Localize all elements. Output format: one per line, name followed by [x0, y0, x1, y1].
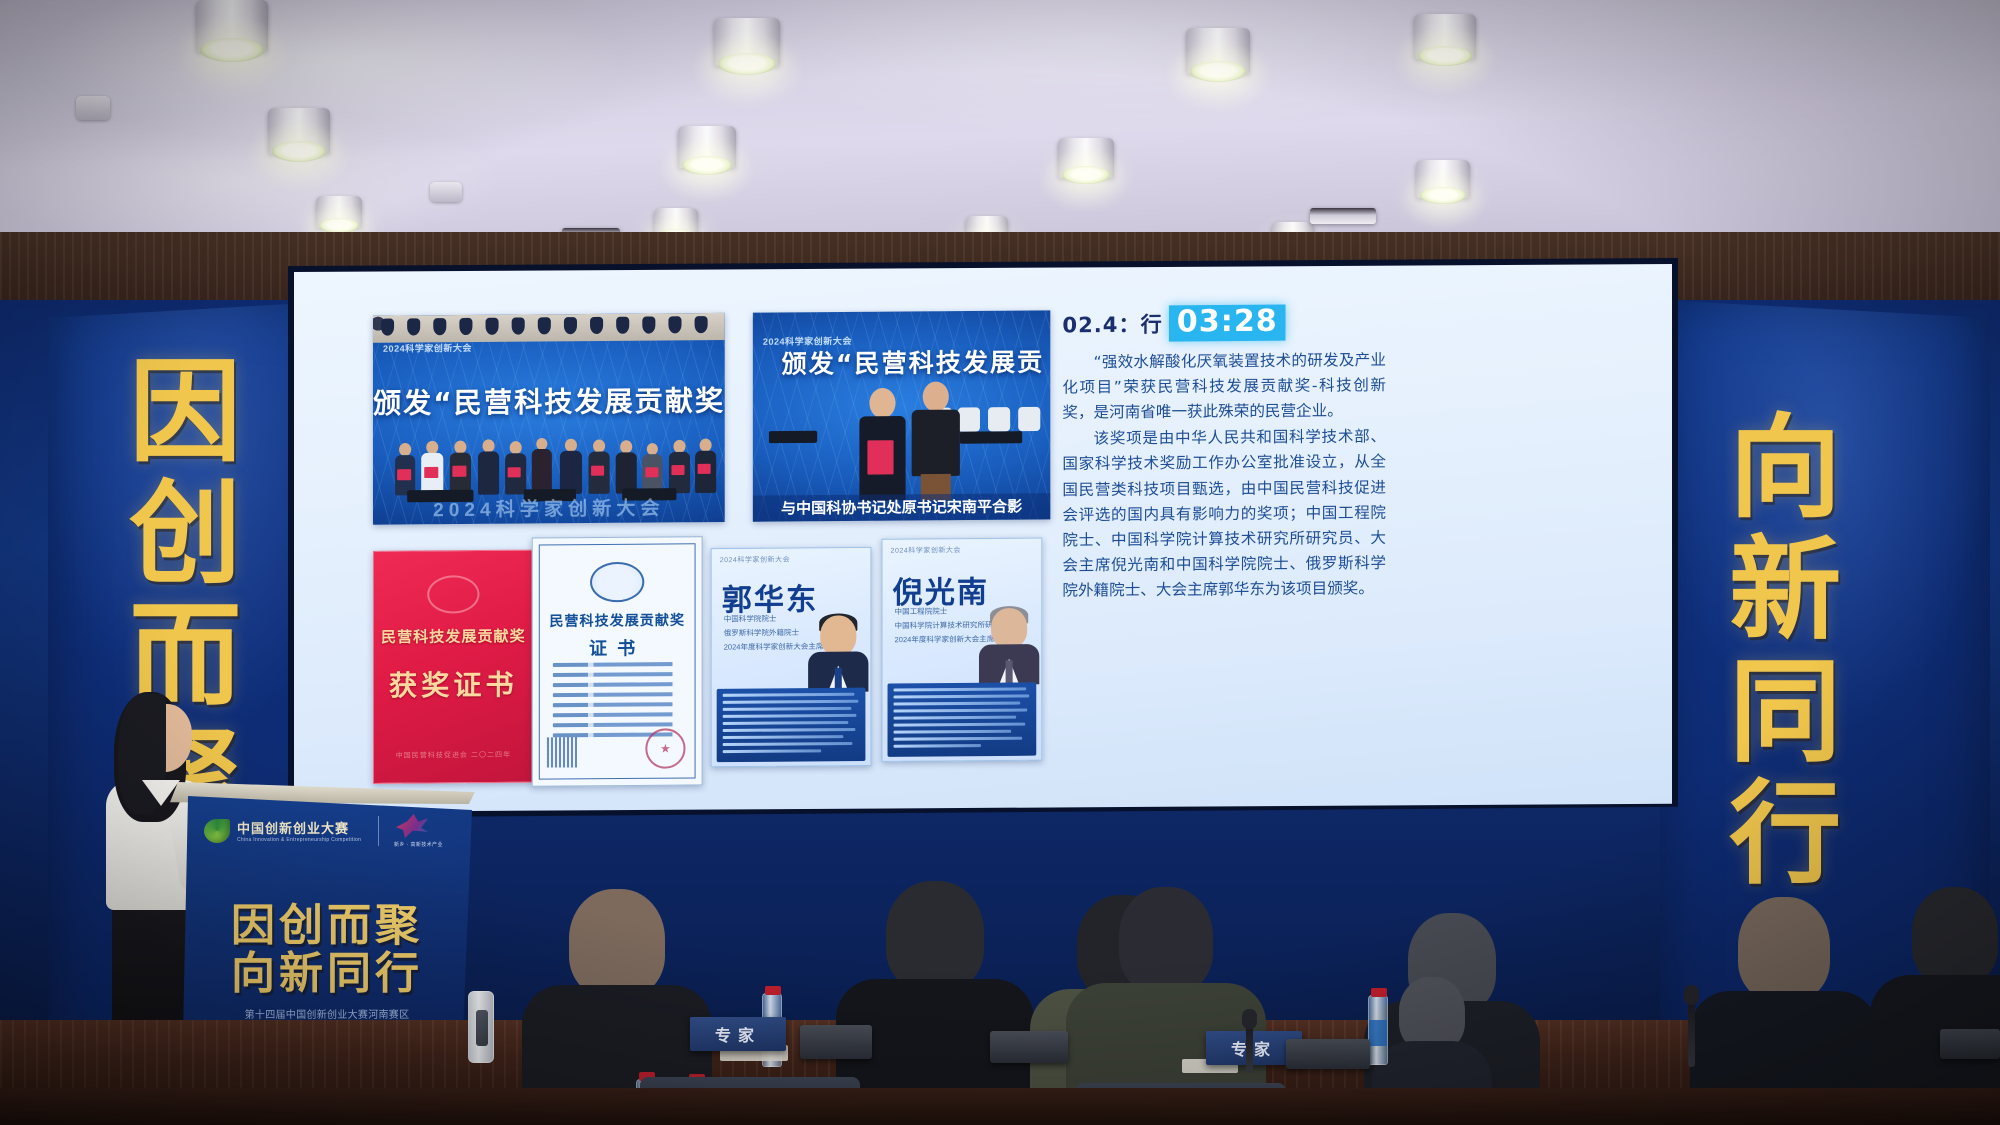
ceiling-vent: [1310, 208, 1376, 224]
desk-microphone: [1688, 1001, 1695, 1067]
portrait-photo: [979, 608, 1039, 685]
portrait-brand: 2024科学家创新大会: [720, 555, 790, 566]
photo-brand-top: 2024科学家创新大会: [383, 341, 472, 355]
podium-logo-name: 中国创新创业大赛: [237, 818, 361, 837]
slide-text-column: 02.4：行 03:28 “强效水解酸化厌氧装置技术的研发及产业化项目”荣获民营…: [1062, 304, 1394, 789]
section-label: 02.4：行: [1062, 308, 1162, 339]
slide-photo-group-shot: 2024科学家创新大会 颁发“民营科技发展贡 与中国: [753, 310, 1050, 521]
laptop[interactable]: [1286, 1039, 1370, 1069]
portrait-meta-1: 中国工程院院士: [895, 606, 948, 618]
portrait-meta-2: 俄罗斯科学院外籍院士: [724, 627, 799, 639]
laptop[interactable]: [990, 1031, 1068, 1063]
podium-logo-divider: [378, 816, 379, 846]
portrait-meta-1: 中国科学院院士: [724, 613, 777, 625]
slide-certificate-white: 民营科技发展贡献奖 证书: [532, 536, 703, 787]
photo-headline: 颁发“民营科技发展贡献奖”: [373, 379, 725, 422]
bird-logo-icon: [396, 814, 428, 838]
portrait-bio-block: [717, 688, 866, 763]
portrait-photo: [808, 615, 868, 692]
countdown-timer: 03:28: [1169, 304, 1286, 341]
cert-red-title: 民营科技发展贡献奖: [374, 625, 533, 647]
projection-screen[interactable]: 2024科学家创新大会 颁发“民营科技发展贡献奖” 2024科学家创新大会: [294, 264, 1672, 812]
laptop[interactable]: [800, 1025, 872, 1059]
photo-footer: 2024科学家创新大会: [373, 493, 725, 523]
slide-certificate-red: 民营科技发展贡献奖 获奖证书 中国民营科技促进会 二〇二四年: [373, 550, 534, 784]
laptop[interactable]: [1940, 1029, 2000, 1059]
water-tumbler: [468, 991, 494, 1063]
table-placard-expert: 专家: [690, 1017, 786, 1051]
podium-logo-subtitle: China Innovation & Entrepreneurship Comp…: [237, 837, 361, 843]
front-desk-edge: [0, 1088, 2000, 1125]
photo-caption: 与中国科协书记处原书记宋南平合影: [753, 493, 1050, 521]
right-banner-calligraphy: 向新同行: [1718, 408, 1832, 896]
cert-red-subtitle: 获奖证书: [374, 663, 533, 704]
podium-partner-subtitle: 新乡 · 高新技术产业: [394, 841, 443, 848]
portrait-bio-block: [888, 682, 1037, 757]
podium-slogan-line-1: 因创而聚: [182, 900, 472, 952]
slide-photo-award-ceremony: 2024科学家创新大会 颁发“民营科技发展贡献奖” 2024科学家创新大会: [373, 313, 725, 525]
podium-logo: 中国创新创业大赛 China Innovation & Entrepreneur…: [204, 818, 361, 843]
portrait-brand: 2024科学家创新大会: [891, 545, 961, 556]
podium-slogan-line-2: 向新同行: [182, 948, 472, 1000]
water-bottle: [1368, 995, 1388, 1065]
smoke-detector-icon: [76, 96, 110, 120]
slide-body-text: “强效水解酸化厌氧装置技术的研发及产业化项目”荣获民营科技发展贡献奖-科技创新奖…: [1062, 348, 1386, 605]
official-stamp-icon: [645, 728, 685, 769]
leaf-logo-icon: [204, 819, 230, 843]
slide-portrait-card-ni: 2024科学家创新大会 倪光南 中国工程院院士 中国科学院计算技术研究所研究员 …: [881, 538, 1042, 762]
smoke-detector-icon: [430, 182, 462, 202]
slide-portrait-card-guo: 2024科学家创新大会 郭华东 中国科学院院士 俄罗斯科学院外籍院士 2024年…: [711, 547, 872, 767]
table-placard-text: 专家: [690, 1022, 786, 1046]
conference-room-photo: 因创而聚 向新同行 2024科学家创新大会 颁发“民营科技发展贡献奖”: [0, 0, 2000, 1125]
cert-white-title: 民营科技发展贡献奖: [533, 610, 702, 631]
photo-headline: 颁发“民营科技发展贡: [753, 343, 1050, 382]
cert-white-subtitle: 证书: [533, 634, 702, 661]
slide-paragraph-1: “强效水解酸化厌氧装置技术的研发及产业化项目”荣获民营科技发展贡献奖-科技创新奖…: [1062, 348, 1386, 426]
cert-red-fineprint: 中国民营科技促进会 二〇二四年: [374, 750, 533, 761]
qr-code-icon: [547, 737, 577, 767]
slide-section-header: 02.4：行 03:28: [1062, 304, 1285, 341]
desk-microphone: [1246, 1025, 1253, 1073]
slide-paragraph-2: 该奖项是由中华人民共和国科学技术部、国家科学技术奖励工作办公室批准设立，从全国民…: [1062, 425, 1386, 604]
